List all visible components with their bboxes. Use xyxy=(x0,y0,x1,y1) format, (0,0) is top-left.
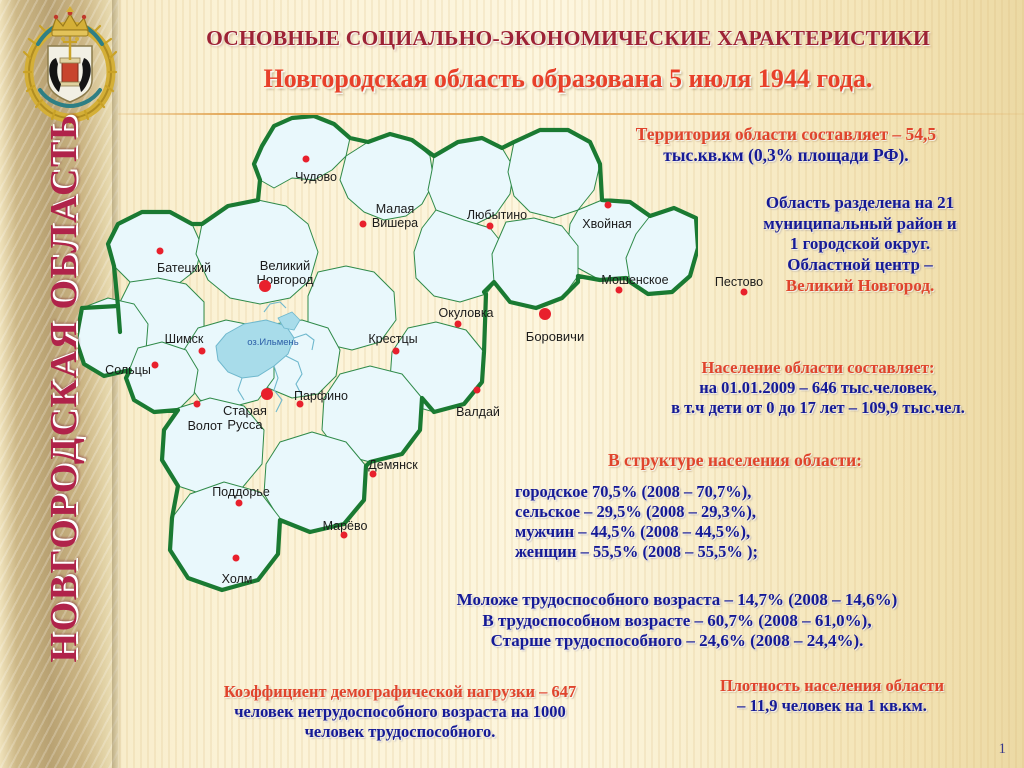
structure-men: мужчин – 44,5% (2008 – 44,5%), xyxy=(515,522,1015,542)
demographic-load-line-2: человек трудоспособного. xyxy=(120,722,680,742)
info-block-structure: городское 70,5% (2008 – 70,7%), сельское… xyxy=(515,482,1015,563)
city-marker[interactable] xyxy=(474,387,481,394)
population-line-1: на 01.01.2009 – 646 тыс.человек, xyxy=(612,378,1024,398)
city-marker[interactable] xyxy=(393,348,400,355)
info-block-territory: Территория области составляет – 54,5 тыс… xyxy=(556,124,1016,167)
city-marker[interactable] xyxy=(194,401,201,408)
age-younger: Моложе трудоспособного возраста – 14,7% … xyxy=(330,590,1024,611)
structure-women: женщин – 55,5% (2008 – 55,5% ); xyxy=(515,542,1015,562)
districts-regional-center: Великий Новгород. xyxy=(700,276,1020,297)
city-label: Боровичи xyxy=(526,330,584,344)
coat-of-arms-icon xyxy=(22,6,118,124)
city-marker[interactable] xyxy=(487,223,494,230)
age-working: В трудоспособном возрасте – 60,7% (2008 … xyxy=(330,611,1024,632)
city-marker[interactable] xyxy=(236,500,243,507)
info-block-population: Население области составляет: на 01.01.2… xyxy=(612,358,1024,418)
city-label: Любытино xyxy=(467,209,527,223)
age-older: Старше трудоспособного – 24,6% (2008 – 2… xyxy=(330,631,1024,652)
city-label: Поддорье xyxy=(212,486,270,500)
demographic-load-heading: Коэффициент демографической нагрузки – 6… xyxy=(120,682,680,702)
info-block-districts: Область разделена на 21 муниципальный ра… xyxy=(700,193,1020,297)
info-block-age-groups: Моложе трудоспособного возраста – 14,7% … xyxy=(330,590,1024,652)
city-marker[interactable] xyxy=(261,388,273,400)
info-block-structure-heading: В структуре населения области: xyxy=(500,450,970,471)
city-label: Холм xyxy=(222,573,253,587)
city-label: Крестцы xyxy=(368,333,417,347)
info-block-demographic-load: Коэффициент демографической нагрузки – 6… xyxy=(120,682,680,742)
demographic-load-line-1: человек нетрудоспособного возраста на 10… xyxy=(120,702,680,722)
city-marker[interactable] xyxy=(539,308,551,320)
city-marker[interactable] xyxy=(233,555,240,562)
territory-line-2: тыс.кв.км (0,3% площади РФ). xyxy=(556,145,1016,166)
city-marker[interactable] xyxy=(199,348,206,355)
city-label: Сольцы xyxy=(105,364,151,378)
lake-label-ilmen: оз.Ильмень xyxy=(247,337,299,348)
page-title: ОСНОВНЫЕ СОЦИАЛЬНО-ЭКОНОМИЧЕСКИЕ ХАРАКТЕ… xyxy=(118,26,1018,51)
city-marker[interactable] xyxy=(370,471,377,478)
page-subtitle: Новгородская область образована 5 июля 1… xyxy=(118,64,1018,94)
structure-urban: городское 70,5% (2008 – 70,7%), xyxy=(515,482,1015,502)
city-marker[interactable] xyxy=(303,156,310,163)
districts-line-1: Область разделена на 21 xyxy=(700,193,1020,214)
city-label: Демянск xyxy=(368,459,417,473)
population-heading: Население области составляет: xyxy=(612,358,1024,378)
population-line-2: в т.ч дети от 0 до 17 лет – 109,9 тыс.че… xyxy=(612,398,1024,418)
city-label: Волот xyxy=(188,420,223,434)
city-marker[interactable] xyxy=(259,280,271,292)
city-label: Батецкий xyxy=(157,262,211,276)
city-label: Хвойная xyxy=(582,218,631,232)
city-label: Шимск xyxy=(165,333,204,347)
districts-line-2: муниципальный район и xyxy=(700,214,1020,235)
districts-line-4: Областной центр – xyxy=(700,255,1020,276)
city-marker[interactable] xyxy=(341,532,348,539)
city-label: Мошенское xyxy=(601,274,668,288)
districts-line-3: 1 городской округ. xyxy=(700,234,1020,255)
city-marker[interactable] xyxy=(152,362,159,369)
slide-canvas: ЧудовоМалаяВишераЛюбытиноХвойнаяБатецкий… xyxy=(0,0,1024,768)
city-label: Чудово xyxy=(295,171,337,185)
city-marker[interactable] xyxy=(297,401,304,408)
city-label: СтараяРусса xyxy=(223,404,267,432)
city-marker[interactable] xyxy=(455,321,462,328)
header-divider xyxy=(118,113,1024,115)
city-marker[interactable] xyxy=(616,287,623,294)
city-marker[interactable] xyxy=(360,221,367,228)
city-label: Окуловка xyxy=(438,307,493,321)
city-label: Валдай xyxy=(456,406,500,420)
territory-line-1: Территория области составляет – 54,5 xyxy=(556,124,1016,145)
city-label: МалаяВишера xyxy=(372,203,418,230)
structure-rural: сельское – 29,5% (2008 – 29,3%), xyxy=(515,502,1015,522)
info-block-density: Плотность населения области – 11,9 челов… xyxy=(640,676,1024,716)
city-marker[interactable] xyxy=(605,202,612,209)
city-marker[interactable] xyxy=(157,248,164,255)
page-number: 1 xyxy=(999,741,1007,758)
density-line-1: – 11,9 человек на 1 кв.км. xyxy=(640,696,1024,716)
density-heading: Плотность населения области xyxy=(640,676,1024,696)
